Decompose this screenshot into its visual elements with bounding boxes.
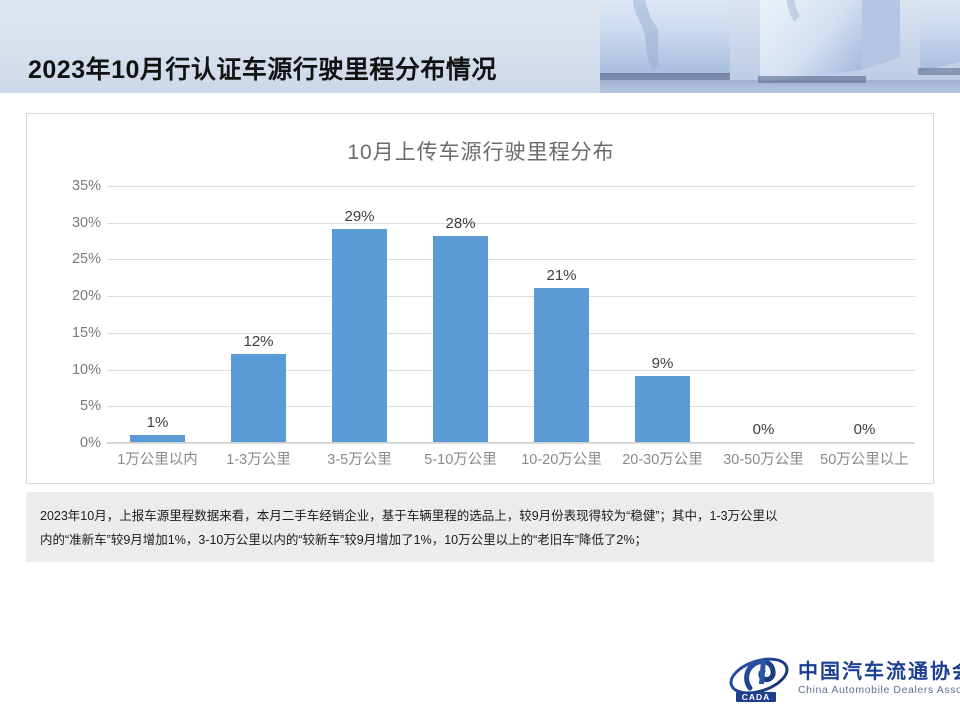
chart-value-label: 0% xyxy=(814,421,915,438)
analysis-note: 2023年10月，上报车源里程数据来看，本月二手车经销企业，基于车辆里程的选品上… xyxy=(26,492,934,562)
chart-value-label: 0% xyxy=(713,421,814,438)
chart-x-axis-labels: 1万公里以内1-3万公里3-5万公里5-10万公里10-20万公里20-30万公… xyxy=(107,448,915,474)
cada-emblem-icon: CADA xyxy=(728,654,790,704)
chart-x-tick-label: 1-3万公里 xyxy=(208,448,309,474)
chart-y-tick-label: 15% xyxy=(39,325,101,341)
chart-x-tick-label: 10-20万公里 xyxy=(511,448,612,474)
chart-x-axis-line xyxy=(107,442,915,443)
chart-bar xyxy=(433,236,488,442)
chart-bar xyxy=(534,288,589,442)
chart-bar-group: 9% xyxy=(612,186,713,442)
chart-y-tick-label: 5% xyxy=(39,398,101,414)
header-divider xyxy=(0,93,960,94)
chart-y-tick-label: 10% xyxy=(39,362,101,378)
chart-y-tick-label: 30% xyxy=(39,215,101,231)
chart-y-tick-label: 0% xyxy=(39,435,101,451)
chart-y-tick-label: 35% xyxy=(39,178,101,194)
chart-value-label: 21% xyxy=(511,267,612,284)
chart-x-tick-label: 3-5万公里 xyxy=(309,448,410,474)
chart-bar-series: 1%12%29%28%21%9%0%0% xyxy=(107,186,915,442)
chart-gridline xyxy=(107,443,915,444)
analysis-note-line-2: 内的“准新车”较9月增加1%，3-10万公里以内的“较新车”较9月增加了1%，1… xyxy=(40,528,920,552)
org-name-cn: 中国汽车流通协会 xyxy=(798,661,960,683)
chart-x-tick-label: 50万公里以上 xyxy=(814,448,915,474)
chart-panel: 10月上传车源行驶里程分布 0%5%10%15%20%25%30%35% 1%1… xyxy=(26,113,934,484)
chart-value-label: 29% xyxy=(309,208,410,225)
chart-x-tick-label: 30-50万公里 xyxy=(713,448,814,474)
organization-name: 中国汽车流通协会 China Automobile Dealers Associ… xyxy=(798,661,960,697)
chart-bar-group: 1% xyxy=(107,186,208,442)
chart-bar-group: 21% xyxy=(511,186,612,442)
chart-value-label: 12% xyxy=(208,333,309,350)
org-name-en: China Automobile Dealers Association xyxy=(798,683,960,697)
chart-bar-group: 28% xyxy=(410,186,511,442)
chart-bar xyxy=(332,229,387,442)
chart-value-label: 9% xyxy=(612,355,713,372)
chart-x-tick-label: 5-10万公里 xyxy=(410,448,511,474)
chart-bar xyxy=(231,354,286,442)
chart-title: 10月上传车源行驶里程分布 xyxy=(27,136,935,166)
slide-header: 2023年10月行认证车源行驶里程分布情况 xyxy=(0,0,960,94)
svg-text:CADA: CADA xyxy=(742,692,771,702)
chart-y-tick-label: 20% xyxy=(39,288,101,304)
chart-value-label: 28% xyxy=(410,215,511,232)
chart-bar-group: 0% xyxy=(814,186,915,442)
analysis-note-line-1: 2023年10月，上报车源里程数据来看，本月二手车经销企业，基于车辆里程的选品上… xyxy=(40,504,920,528)
organization-logo: CADA 中国汽车流通协会 China Automobile Dealers A… xyxy=(728,650,940,708)
chart-x-tick-label: 1万公里以内 xyxy=(107,448,208,474)
chart-y-tick-label: 25% xyxy=(39,251,101,267)
chart-bar-group: 12% xyxy=(208,186,309,442)
chart-x-tick-label: 20-30万公里 xyxy=(612,448,713,474)
chart-bar-group: 0% xyxy=(713,186,814,442)
page-title: 2023年10月行认证车源行驶里程分布情况 xyxy=(28,50,497,86)
chart-value-label: 1% xyxy=(107,414,208,431)
glass-cubes-world-map-icon xyxy=(600,0,960,94)
chart-bar-group: 29% xyxy=(309,186,410,442)
chart-bar xyxy=(635,376,690,442)
chart-bar xyxy=(130,435,185,442)
chart-plot-area: 0%5%10%15%20%25%30%35% 1%12%29%28%21%9%0… xyxy=(107,186,915,443)
